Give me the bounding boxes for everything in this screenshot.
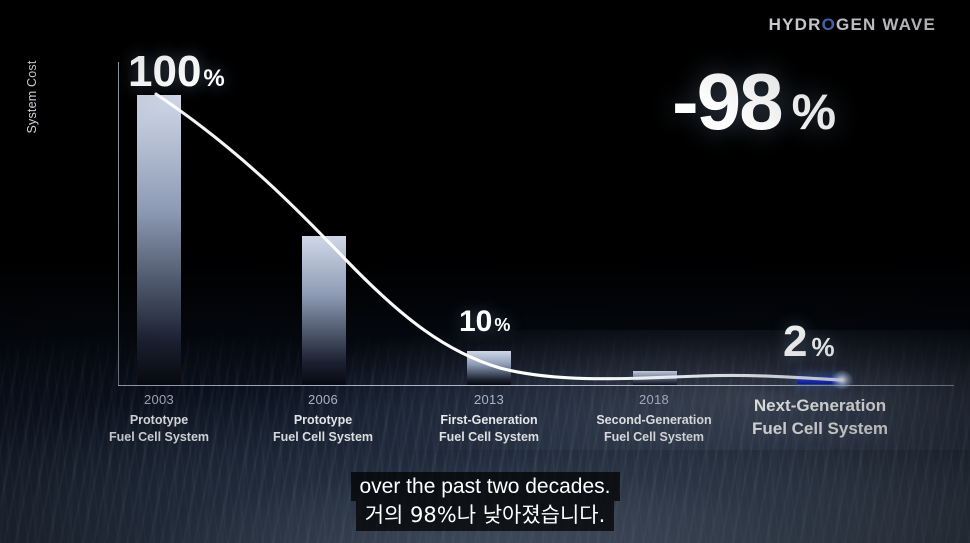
category-name-line1: Prototype — [233, 412, 413, 429]
subtitle-line-english: over the past two decades. — [351, 472, 620, 501]
category-year: 2018 — [564, 392, 744, 407]
category-name: Prototype Fuel Cell System — [69, 412, 249, 445]
category-name: Second-Generation Fuel Cell System — [564, 412, 744, 445]
headline-number: -98 — [672, 62, 782, 142]
value-percent: % — [811, 334, 834, 360]
category-2003: 2003 Prototype Fuel Cell System — [69, 392, 249, 445]
category-2013: 2013 First-Generation Fuel Cell System — [399, 392, 579, 445]
category-next-generation: Next-Generation Fuel Cell System — [729, 395, 911, 441]
category-name-line2: Fuel Cell System — [69, 429, 249, 446]
category-name-line2: Fuel Cell System — [564, 429, 744, 446]
brand-logo: HYDROGEN WAVE — [769, 15, 936, 35]
bar-2006 — [302, 236, 346, 385]
subtitle-block: over the past two decades. 거의 98%나 낮아졌습니… — [0, 472, 970, 531]
category-name-line2: Fuel Cell System — [233, 429, 413, 446]
category-year: 2006 — [233, 392, 413, 407]
value-percent: % — [494, 316, 510, 334]
bar-2018 — [633, 371, 677, 385]
category-name-line1: Second-Generation — [564, 412, 744, 429]
y-axis-label: System Cost — [25, 42, 39, 152]
subtitle-line-korean: 거의 98%나 낮아졌습니다. — [356, 501, 615, 530]
x-axis-line — [118, 385, 954, 386]
value-number: 2 — [783, 320, 807, 364]
category-year: 2003 — [69, 392, 249, 407]
headline-reduction: -98 % — [672, 62, 836, 142]
value-label-2003: 100 % — [128, 50, 225, 94]
slide-canvas: HYDROGEN WAVE -98 % System Cost 100 % 10… — [0, 0, 970, 543]
category-year: 2013 — [399, 392, 579, 407]
category-name-line1: Next-Generation — [729, 395, 911, 418]
category-2018: 2018 Second-Generation Fuel Cell System — [564, 392, 744, 445]
value-percent: % — [203, 67, 224, 91]
brand-text-before: HYDR — [769, 15, 822, 35]
category-name: Prototype Fuel Cell System — [233, 412, 413, 445]
category-2006: 2006 Prototype Fuel Cell System — [233, 392, 413, 445]
category-name-line1: First-Generation — [399, 412, 579, 429]
value-number: 10 — [459, 307, 492, 337]
category-name-line2: Fuel Cell System — [729, 418, 911, 441]
y-axis-line — [118, 62, 119, 386]
value-number: 100 — [128, 50, 201, 94]
category-name-line2: Fuel Cell System — [399, 429, 579, 446]
headline-percent-sign: % — [792, 87, 836, 137]
bar-2003 — [137, 95, 181, 385]
value-label-next-generation: 2 % — [783, 320, 835, 364]
category-name: First-Generation Fuel Cell System — [399, 412, 579, 445]
value-label-2013: 10 % — [459, 307, 510, 337]
brand-accent-letter: O — [822, 15, 836, 35]
bar-2013 — [467, 351, 511, 385]
category-name-line1: Prototype — [69, 412, 249, 429]
bar-next-generation — [797, 377, 841, 384]
brand-text-after: GEN WAVE — [836, 15, 936, 35]
